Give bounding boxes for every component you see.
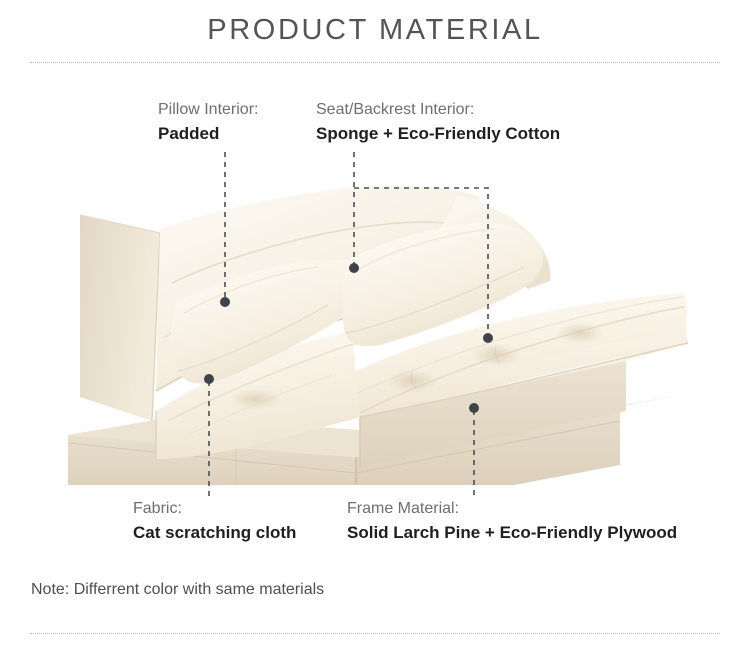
callout-frame-material: Frame Material: Solid Larch Pine + Eco-F… [347,499,677,544]
callout-value-seat-backrest-interior: Sponge + Eco-Friendly Cotton [316,123,560,145]
divider-bottom [30,633,720,634]
divider-top [30,62,720,63]
callout-label-seat-backrest-interior: Seat/Backrest Interior: [316,100,560,120]
callout-fabric: Fabric: Cat scratching cloth [133,499,296,544]
callout-seat-backrest-interior: Seat/Backrest Interior: Sponge + Eco-Fri… [316,100,560,145]
callout-label-pillow-interior: Pillow Interior: [158,100,258,120]
product-illustration [60,185,690,485]
sofa-bed-svg [60,185,690,485]
callout-value-frame-material: Solid Larch Pine + Eco-Friendly Plywood [347,522,677,544]
product-material-infographic: PRODUCT MATERIAL [0,0,750,660]
callout-label-fabric: Fabric: [133,499,296,519]
callout-label-frame-material: Frame Material: [347,499,677,519]
callout-value-pillow-interior: Padded [158,123,258,145]
callout-value-fabric: Cat scratching cloth [133,522,296,544]
page-title: PRODUCT MATERIAL [0,14,750,47]
note-text: Note: Differrent color with same materia… [31,581,324,599]
callout-pillow-interior: Pillow Interior: Padded [158,100,258,145]
